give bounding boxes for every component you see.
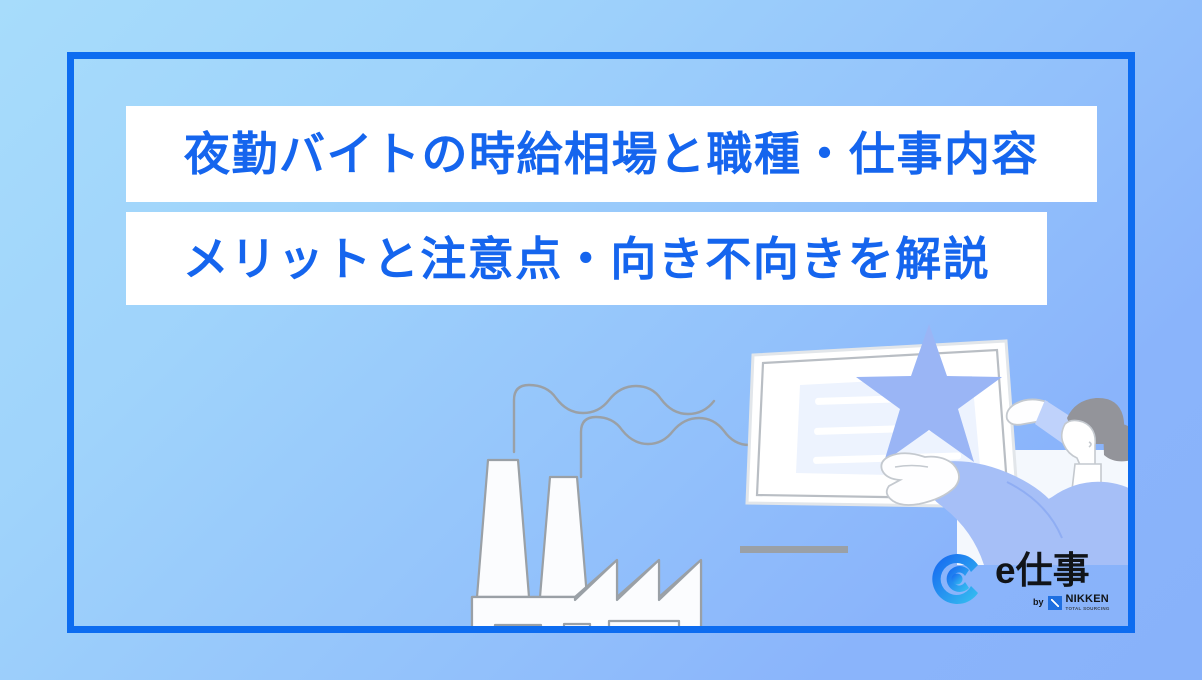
logo-wordmark: e仕事 <box>995 552 1090 589</box>
byline-text: by <box>1033 598 1044 607</box>
nikken-brand-name: NIKKEN <box>1066 594 1110 605</box>
title-box-primary: 夜勤バイトの時給相場と職種・仕事内容 <box>126 106 1097 202</box>
banner-root: 夜勤バイトの時給相場と職種・仕事内容 メリットと注意点・向き不向きを解説 e仕事… <box>0 0 1202 680</box>
title-box-secondary: メリットと注意点・向き不向きを解説 <box>126 212 1047 305</box>
brand-logo[interactable]: e仕事 by NIKKEN TOTAL SOURCING <box>928 550 1110 611</box>
nikken-brand-sub: TOTAL SOURCING <box>1066 607 1110 612</box>
e-swirl-icon <box>928 550 986 608</box>
title-line-1: 夜勤バイトの時給相場と職種・仕事内容 <box>184 131 1039 177</box>
title-line-2: メリットと注意点・向き不向きを解説 <box>183 236 991 282</box>
nikken-badge-icon <box>1048 596 1062 610</box>
logo-byline: by NIKKEN TOTAL SOURCING <box>1033 594 1110 611</box>
